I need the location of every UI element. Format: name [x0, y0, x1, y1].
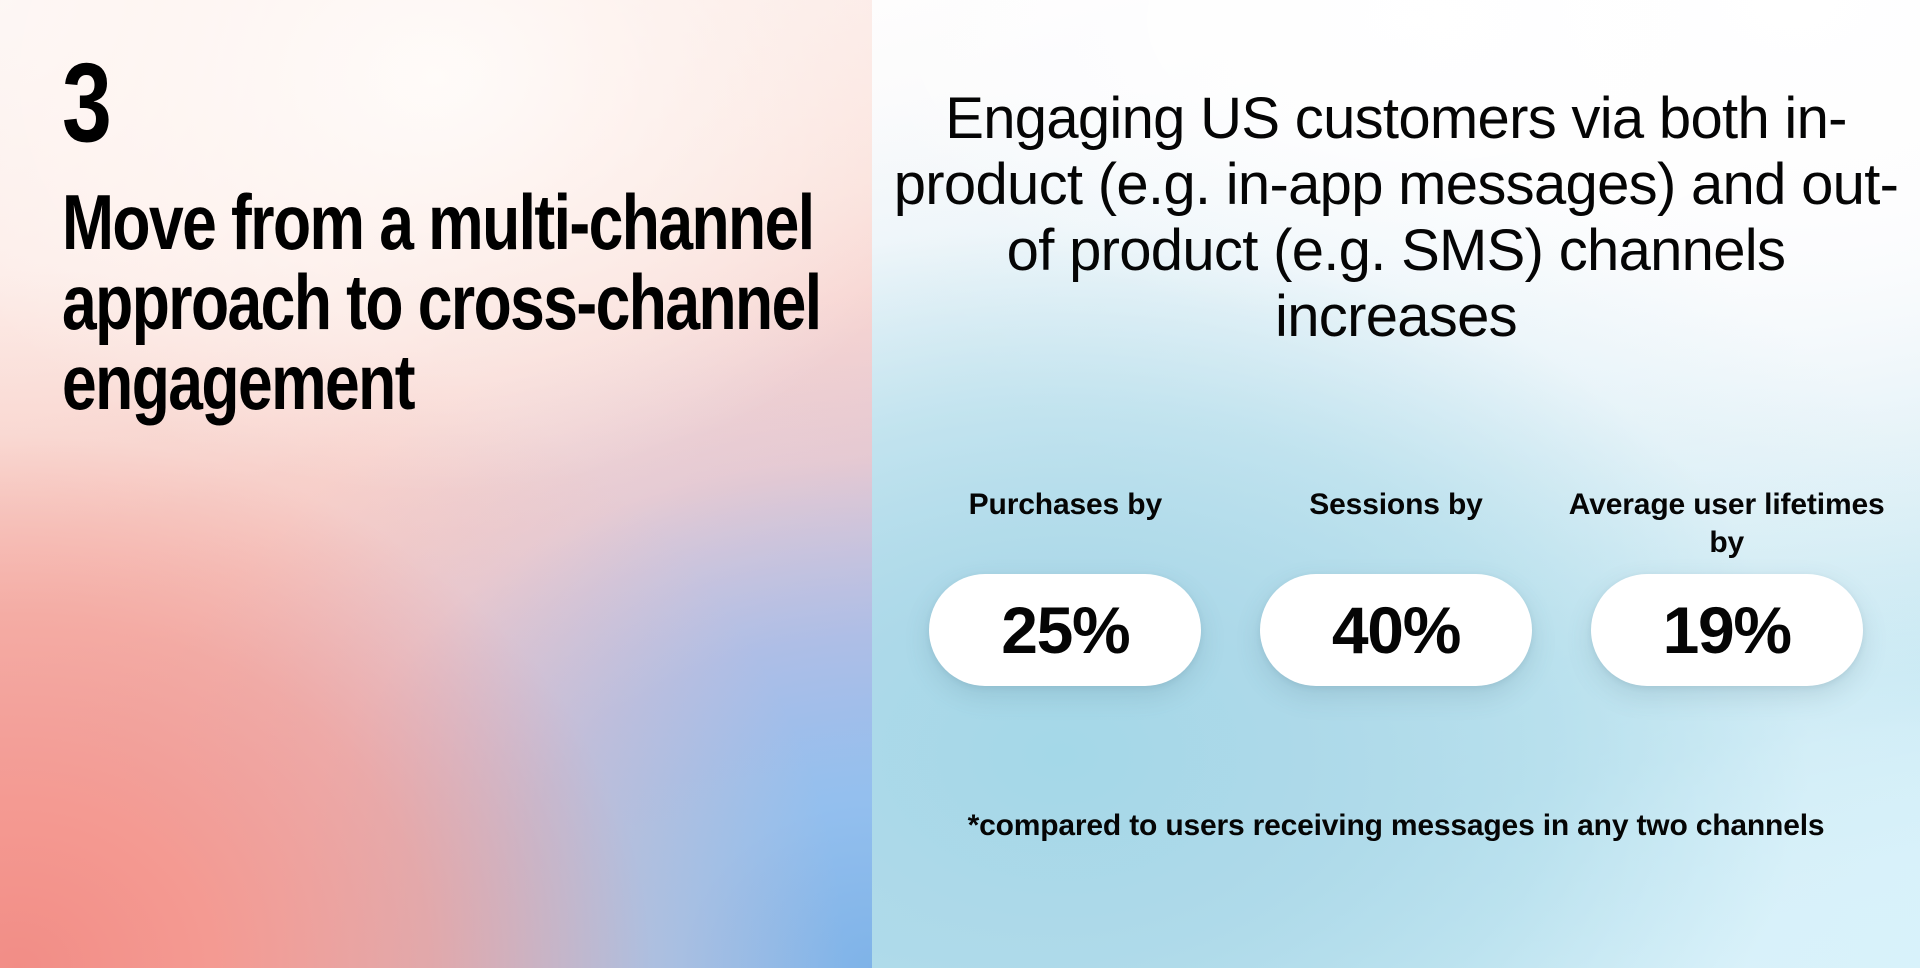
left-panel: 3 Move from a multi-channel approach to … — [0, 0, 872, 968]
stat-label-purchases: Purchases by — [969, 486, 1162, 562]
headline: Engaging US customers via both in-produc… — [872, 86, 1920, 350]
stat-value-purchases: 25% — [1001, 597, 1129, 663]
step-number: 3 — [62, 48, 686, 158]
left-content: 3 Move from a multi-channel approach to … — [62, 48, 842, 423]
stat-average-user-lifetimes: Average user lifetimes by 19% — [1561, 486, 1892, 686]
right-content: Engaging US customers via both in-produc… — [872, 0, 1920, 968]
stat-label-average-user-lifetimes: Average user lifetimes by — [1561, 486, 1892, 562]
stat-value-average-user-lifetimes: 19% — [1663, 597, 1791, 663]
stat-value-sessions: 40% — [1332, 597, 1460, 663]
right-panel: Engaging US customers via both in-produc… — [872, 0, 1920, 968]
stat-pill-average-user-lifetimes: 19% — [1591, 574, 1863, 686]
stat-purchases: Purchases by 25% — [900, 486, 1231, 686]
footnote: *compared to users receiving messages in… — [872, 808, 1920, 844]
stats-row: Purchases by 25% Sessions by 40% Average… — [900, 486, 1892, 686]
stat-label-sessions: Sessions by — [1309, 486, 1482, 562]
slide: 3 Move from a multi-channel approach to … — [0, 0, 1920, 968]
stat-pill-sessions: 40% — [1260, 574, 1532, 686]
stat-sessions: Sessions by 40% — [1231, 486, 1562, 686]
page-title: Move from a multi-channel approach to cr… — [62, 182, 842, 423]
stat-pill-purchases: 25% — [929, 574, 1201, 686]
